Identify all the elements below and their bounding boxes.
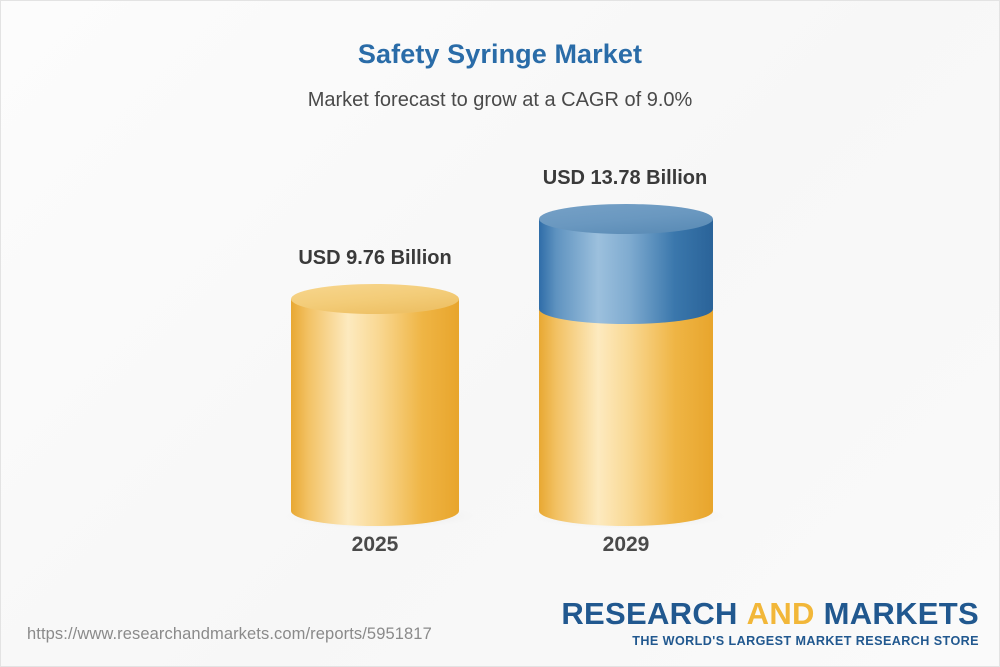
brand-word-research: RESEARCH bbox=[561, 596, 737, 631]
category-label-2029: 2029 bbox=[486, 533, 766, 557]
brand-wordmark: RESEARCH AND MARKETS bbox=[561, 598, 979, 629]
plot-area: USD 9.76 Billion bbox=[1, 1, 1000, 601]
brand-word-and: AND bbox=[747, 596, 815, 631]
bar-group-2029: USD 13.78 Billion bbox=[1, 1, 1000, 601]
chart-figure: Safety Syringe Market Market forecast to… bbox=[0, 0, 1000, 667]
brand-logo[interactable]: RESEARCH AND MARKETS THE WORLD'S LARGEST… bbox=[561, 598, 979, 648]
source-url[interactable]: https://www.researchandmarkets.com/repor… bbox=[27, 625, 432, 644]
cylinder-2029 bbox=[523, 193, 728, 533]
value-label-2029: USD 13.78 Billion bbox=[485, 167, 765, 190]
brand-tagline: THE WORLD'S LARGEST MARKET RESEARCH STOR… bbox=[561, 635, 979, 648]
brand-word-markets: MARKETS bbox=[824, 596, 979, 631]
